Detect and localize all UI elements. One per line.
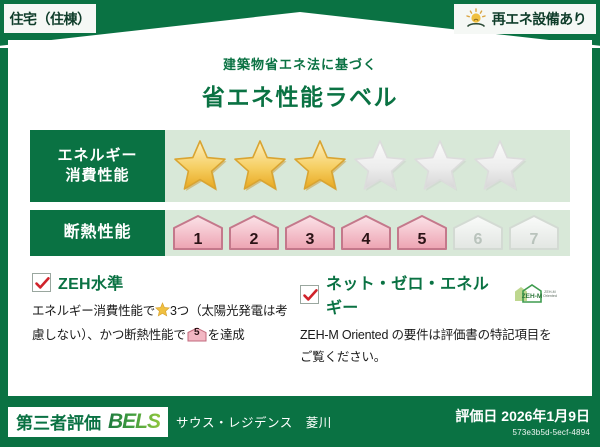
- zeh-standard-title: ZEH水準: [58, 270, 124, 294]
- svg-text:ZEH-M: ZEH-M: [522, 293, 543, 300]
- insulation-level-value: 7: [507, 231, 561, 249]
- energy-label-line2: 消費性能: [65, 166, 129, 186]
- insulation-level-empty: 7: [507, 214, 561, 252]
- insulation-level-filled: 2: [227, 214, 281, 252]
- star-empty-icon: [411, 138, 469, 194]
- insulation-level-value: 6: [451, 231, 505, 249]
- insulation-level-track: 1234567: [165, 210, 570, 256]
- bels-logo: BELS: [108, 410, 160, 434]
- zeh-m-oriented-logo: ZEH-M ZEH-M Oriented: [512, 282, 558, 306]
- energy-performance-row: エネルギー 消費性能: [30, 130, 570, 202]
- insulation-level-value: 3: [283, 231, 337, 249]
- net-zero-energy-body: ZEH-M Oriented の要件は評価書の特記項目をご覧ください。: [300, 325, 558, 369]
- bels-jp-label: 第三者評価: [16, 409, 101, 434]
- energy-performance-label-box: エネルギー 消費性能: [30, 130, 165, 202]
- label-body: 建築物省エネ法に基づく 省エネ性能ラベル エネルギー 消費性能 断熱性能 123…: [8, 40, 592, 396]
- inline-house-level-value: 5: [187, 324, 207, 342]
- insulation-performance-label-box: 断熱性能: [30, 210, 165, 256]
- net-zero-energy-title: ネット・ゼロ・エネルギー: [326, 270, 503, 318]
- evaluation-date: 評価日 2026年1月9日: [455, 406, 590, 426]
- insulation-performance-row: 断熱性能 1234567: [30, 210, 570, 256]
- insulation-level-value: 1: [171, 231, 225, 249]
- zeh-body-pre: エネルギー消費性能で: [32, 304, 155, 318]
- bels-badge: 第三者評価 BELS: [8, 407, 168, 437]
- star-rating-track: [165, 130, 570, 202]
- ratings-section: エネルギー 消費性能 断熱性能 1234567: [8, 130, 592, 256]
- note-nze-header: ネット・ゼロ・エネルギー ZEH-M ZEH-M Oriented: [300, 270, 558, 318]
- building-type-label: 住宅（住棟）: [10, 9, 91, 29]
- evaluation-meta: 評価日 2026年1月9日 573e3b5d-5ecf-4894: [455, 406, 590, 437]
- star-filled-icon: [171, 138, 229, 194]
- inline-star-icon: [155, 306, 170, 320]
- svg-text:Oriented: Oriented: [543, 294, 557, 298]
- evaluation-id: 573e3b5d-5ecf-4894: [455, 428, 590, 437]
- renewable-energy-label: 再エネ設備あり: [492, 9, 587, 29]
- star-empty-icon: [351, 138, 409, 194]
- zeh-standard-body: エネルギー消費性能で3つ（太陽光発電は考慮しない）、かつ断熱性能で5を達成: [32, 301, 290, 347]
- star-filled-icon: [231, 138, 289, 194]
- zeh-body-post: を達成: [208, 328, 245, 342]
- star-empty-icon: [471, 138, 529, 194]
- insulation-level-value: 4: [339, 231, 393, 249]
- zeh-standard-checkbox: [32, 273, 51, 292]
- insulation-level-value: 5: [395, 231, 449, 249]
- insulation-level-value: 2: [227, 231, 281, 249]
- insulation-level-filled: 5: [395, 214, 449, 252]
- insulation-level-filled: 3: [283, 214, 337, 252]
- insulation-label: 断熱性能: [63, 222, 131, 244]
- note-zeh-standard: ZEH水準 エネルギー消費性能で3つ（太陽光発電は考慮しない）、かつ断熱性能で5…: [32, 270, 300, 369]
- page-title: 省エネ性能ラベル: [8, 78, 592, 112]
- notes-section: ZEH水準 エネルギー消費性能で3つ（太陽光発電は考慮しない）、かつ断熱性能で5…: [8, 270, 592, 369]
- insulation-level-filled: 1: [171, 214, 225, 252]
- energy-label-line1: エネルギー: [57, 146, 137, 166]
- insulation-level-filled: 4: [339, 214, 393, 252]
- energy-performance-label: 住宅（住棟） 再エネ設備あり: [0, 0, 600, 447]
- title-block: 建築物省エネ法に基づく 省エネ性能ラベル: [8, 40, 592, 112]
- footer-bar: 第三者評価 BELS サウス・レジデンス 菱川 評価日 2026年1月9日 57…: [0, 396, 600, 447]
- title-subtitle: 建築物省エネ法に基づく: [8, 54, 592, 73]
- building-name: サウス・レジデンス 菱川: [176, 412, 332, 431]
- renewable-energy-badge: 再エネ設備あり: [454, 4, 596, 34]
- note-net-zero-energy: ネット・ゼロ・エネルギー ZEH-M ZEH-M Oriented ZEH-M …: [300, 270, 568, 369]
- star-filled-icon: [291, 138, 349, 194]
- insulation-level-empty: 6: [451, 214, 505, 252]
- sun-renewable-icon: [464, 8, 488, 30]
- net-zero-energy-checkbox: [300, 285, 319, 304]
- note-zeh-header: ZEH水準: [32, 270, 290, 294]
- inline-house-level-icon: 5: [187, 327, 207, 342]
- building-type-badge: 住宅（住棟）: [4, 4, 96, 33]
